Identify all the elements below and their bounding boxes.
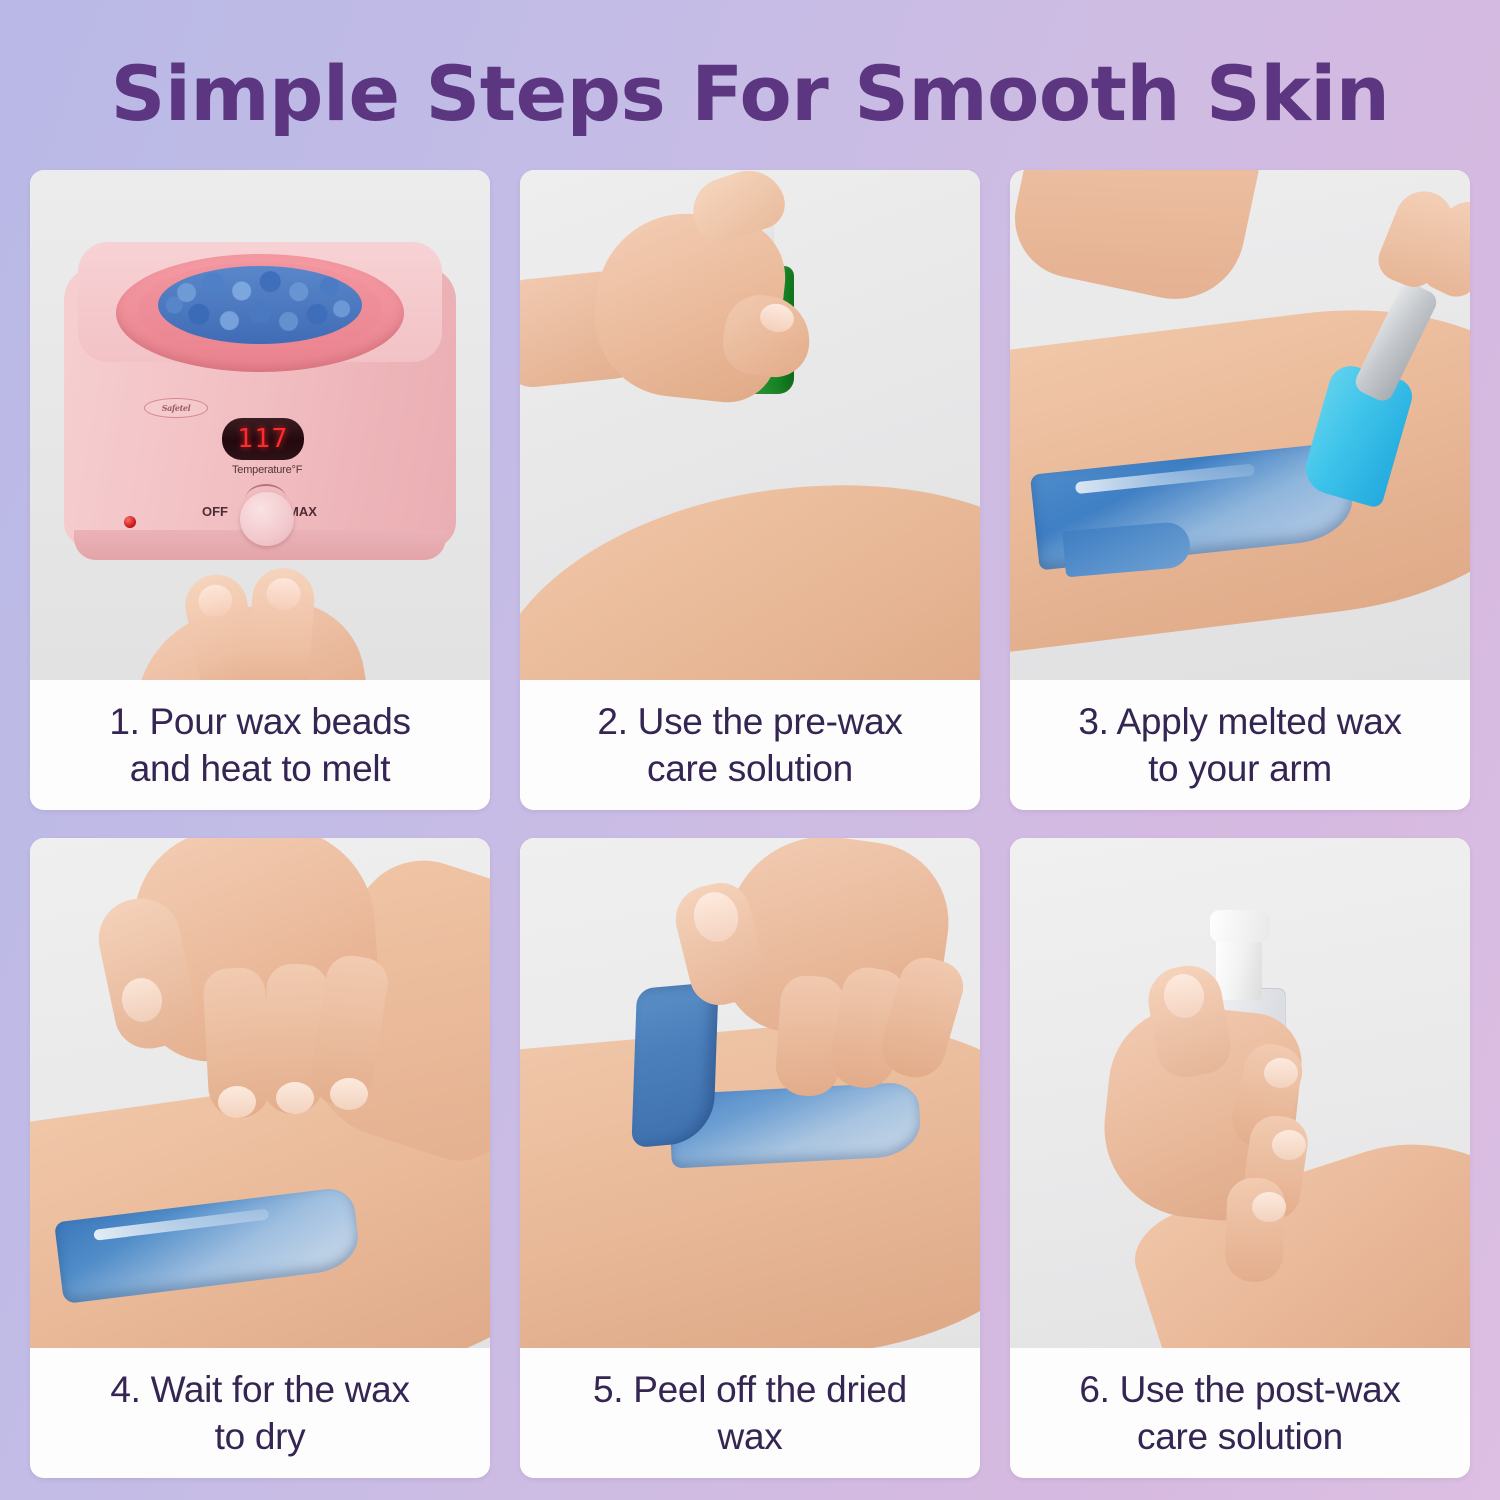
spray-pump-cap — [1210, 910, 1270, 942]
step-card-1: Safetel 117 Temperature°F OFF MAX — [30, 170, 490, 810]
fingernail — [1264, 1058, 1298, 1088]
hand-peeling-wax — [670, 838, 970, 1128]
brand-logo-text: Safetel — [145, 399, 207, 417]
step-6-caption: 6. Use the post-wax care solution — [1010, 1348, 1470, 1478]
step-1-caption-line2: and heat to melt — [130, 748, 391, 789]
step-2-caption: 2. Use the pre-wax care solution — [520, 680, 980, 810]
upper-arm — [1010, 170, 1266, 312]
step-3-caption-line2: to your arm — [1148, 748, 1332, 789]
step-4-photo — [30, 838, 490, 1348]
step-4-caption-line2: to dry — [215, 1416, 306, 1457]
step-4-caption: 4. Wait for the wax to dry — [30, 1348, 490, 1478]
wax-warmer-control-panel: Safetel 117 Temperature°F OFF MAX — [82, 400, 438, 540]
brand-logo: Safetel — [144, 398, 208, 418]
temperature-value: 117 — [237, 424, 288, 454]
fingernail — [330, 1078, 368, 1110]
step-card-6: After Waxing Treatment with lavender oil… — [1010, 838, 1470, 1478]
hand-holding-bottle — [1106, 948, 1406, 1248]
step-card-3: 3. Apply melted wax to your arm — [1010, 170, 1470, 810]
hand-holding-bottle — [596, 178, 836, 408]
step-card-4: 4. Wait for the wax to dry — [30, 838, 490, 1478]
finger — [246, 566, 317, 680]
page-title: Simple Steps For Smooth Skin — [0, 48, 1500, 140]
fingernail — [1272, 1130, 1306, 1160]
fingernail — [195, 582, 235, 620]
step-card-5: 5. Peel off the dried wax — [520, 838, 980, 1478]
hand-on-knob — [130, 562, 380, 680]
power-indicator-light — [124, 516, 136, 528]
step-1-caption-line1: 1. Pour wax beads — [109, 701, 410, 742]
temperature-label: Temperature°F — [232, 464, 302, 476]
hand-holding-spatula — [1370, 190, 1470, 320]
step-5-caption: 5. Peel off the dried wax — [520, 1348, 980, 1478]
fingernail — [266, 577, 302, 611]
fingernail — [276, 1082, 314, 1114]
infographic-page: Simple Steps For Smooth Skin Safetel 117… — [0, 0, 1500, 1500]
step-3-caption: 3. Apply melted wax to your arm — [1010, 680, 1470, 810]
temperature-display: 117 — [222, 418, 304, 460]
step-6-photo: After Waxing Treatment with lavender oil… — [1010, 838, 1470, 1348]
step-5-photo — [520, 838, 980, 1348]
knob-off-label: OFF — [202, 504, 228, 519]
steps-grid: Safetel 117 Temperature°F OFF MAX — [30, 170, 1470, 1478]
step-5-caption-line2: wax — [718, 1416, 783, 1457]
step-1-caption: 1. Pour wax beads and heat to melt — [30, 680, 490, 810]
step-1-photo: Safetel 117 Temperature°F OFF MAX — [30, 170, 490, 680]
step-5-caption-line1: 5. Peel off the dried — [593, 1369, 907, 1410]
forearm — [520, 440, 980, 680]
step-card-2: 2. Use the pre-wax care solution — [520, 170, 980, 810]
hand-testing-wax — [96, 838, 426, 1168]
step-3-caption-line1: 3. Apply melted wax — [1078, 701, 1401, 742]
fingernail — [1252, 1192, 1286, 1222]
step-4-caption-line1: 4. Wait for the wax — [110, 1369, 409, 1410]
fingernail — [218, 1086, 256, 1118]
temperature-knob[interactable] — [240, 492, 294, 546]
blue-wax-beads — [158, 266, 362, 344]
step-2-caption-line2: care solution — [647, 748, 853, 789]
step-2-photo — [520, 170, 980, 680]
step-3-photo — [1010, 170, 1470, 680]
step-2-caption-line1: 2. Use the pre-wax — [597, 701, 902, 742]
step-6-caption-line2: care solution — [1137, 1416, 1343, 1457]
step-6-caption-line1: 6. Use the post-wax — [1079, 1369, 1400, 1410]
